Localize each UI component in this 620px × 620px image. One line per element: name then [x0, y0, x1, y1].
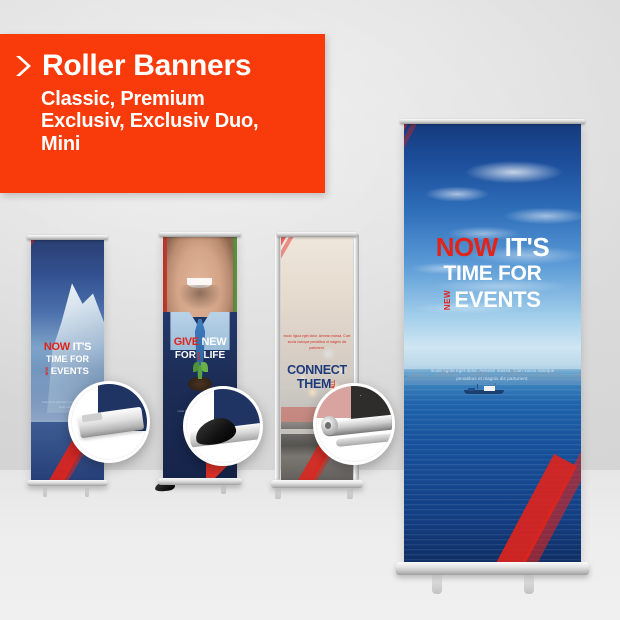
- headline-now: NOW: [44, 341, 70, 353]
- product-showcase-scene: Roller Banners Classic, Premium Exclusiv…: [0, 0, 620, 620]
- seedling-leaf-right: [201, 362, 208, 372]
- header-subtitle: Classic, Premium Exclusiv, Exclusiv Duo,…: [0, 81, 325, 155]
- headline-connect: CONNECT: [281, 364, 353, 377]
- cargo-ship-icon: [464, 385, 504, 394]
- headline-give: GIVE: [174, 336, 199, 348]
- beard: [179, 285, 220, 312]
- header-subtitle-line-1: Classic, Premium: [41, 88, 325, 110]
- headline-line-2: TIME FOR: [404, 262, 581, 285]
- callout-pole-clamp-detail: [313, 383, 395, 465]
- banner-top-rail: [159, 232, 241, 237]
- banner-top-text: modo ligula eget dolor. Aenean massa. Cu…: [281, 334, 353, 352]
- print-edge: [316, 383, 352, 418]
- screw-head: [325, 422, 331, 429]
- banner-foot-left: [43, 486, 47, 497]
- cassette-housing: [77, 407, 143, 438]
- headline-for: FOR: [175, 351, 196, 361]
- page-title: Roller Banners: [42, 51, 251, 81]
- header-title-row: Roller Banners: [0, 34, 325, 81]
- banner-foot-right: [85, 486, 89, 497]
- banner-foot-left: [275, 488, 281, 499]
- banner-print-canvas: NOW IT'S TIME FOR NEW EVENTS modo ligula…: [404, 124, 581, 562]
- banner-top-rail: [277, 232, 357, 237]
- banner-foot-right: [524, 575, 534, 594]
- headline-events: EVENTS: [454, 288, 540, 311]
- banner-headline-block: NOW IT'S TIME FOR NEW EVENTS: [31, 342, 104, 376]
- banner-headline-block: modo ligula eget dolor. Aenean massa. Cu…: [281, 334, 353, 391]
- callout-base-foot-detail: [183, 386, 263, 466]
- headline-line-1: GIVE NEW: [163, 337, 237, 348]
- banner-base-cassette: [396, 562, 589, 575]
- headline-line-2: TIME FOR: [31, 355, 104, 365]
- callout-content: [316, 386, 392, 462]
- banner-body-text: modo ligula eget dolor. Aenean massa. Cu…: [420, 367, 565, 384]
- headline-new-vertical: NEW: [198, 352, 202, 360]
- banner-base-cassette: [271, 480, 363, 488]
- callout-content: [186, 389, 260, 463]
- headline-life: LIFE: [204, 351, 226, 361]
- banner-headline-block: NOW IT'S TIME FOR NEW EVENTS: [404, 234, 581, 311]
- headline-new-vertical: NEW: [444, 290, 452, 310]
- callout-content: [71, 384, 147, 460]
- header-subtitle-line-2: Exclusiv, Exclusiv Duo,: [41, 110, 325, 132]
- headline-new: NEW: [202, 336, 227, 348]
- header-subtitle-line-3: Mini: [41, 133, 325, 155]
- headline-line-1: NOW IT'S: [31, 342, 104, 353]
- headline-its: IT'S: [73, 341, 92, 353]
- banner-top-rail: [400, 119, 585, 124]
- callout-cassette-detail: [68, 381, 150, 463]
- banner-base-cassette: [27, 480, 108, 486]
- lower-rail: [335, 433, 395, 448]
- chevron-right-icon: [14, 54, 31, 78]
- sea-water: [404, 369, 581, 562]
- roller-banner-exclusiv-duo[interactable]: NOW IT'S TIME FOR NEW EVENTS modo ligula…: [404, 119, 581, 562]
- seedling-stem: [198, 365, 202, 379]
- banner-headline-block: GIVE NEW FOR NEW LIFE: [163, 337, 237, 361]
- headline-its: IT'S: [505, 232, 550, 262]
- banner-support-pole-left: [275, 234, 280, 480]
- header-banner: Roller Banners Classic, Premium Exclusiv…: [0, 34, 325, 193]
- banner-foot-left: [432, 575, 442, 594]
- banner-foot-right: [347, 488, 353, 499]
- banner-foot-right: [221, 484, 226, 494]
- headline-new-vertical: NEW: [46, 367, 50, 375]
- banner-top-rail: [27, 235, 108, 240]
- headline-line-3: NEW EVENTS: [404, 288, 581, 311]
- headline-line-3: NEW EVENTS: [31, 367, 104, 377]
- headline-line-2: FOR NEW LIFE: [163, 351, 237, 361]
- banner-base-cassette: [158, 478, 242, 485]
- headline-line-1: NOW IT'S: [404, 234, 581, 260]
- headline-events: EVENTS: [51, 367, 89, 377]
- headline-now: NOW: [436, 232, 498, 262]
